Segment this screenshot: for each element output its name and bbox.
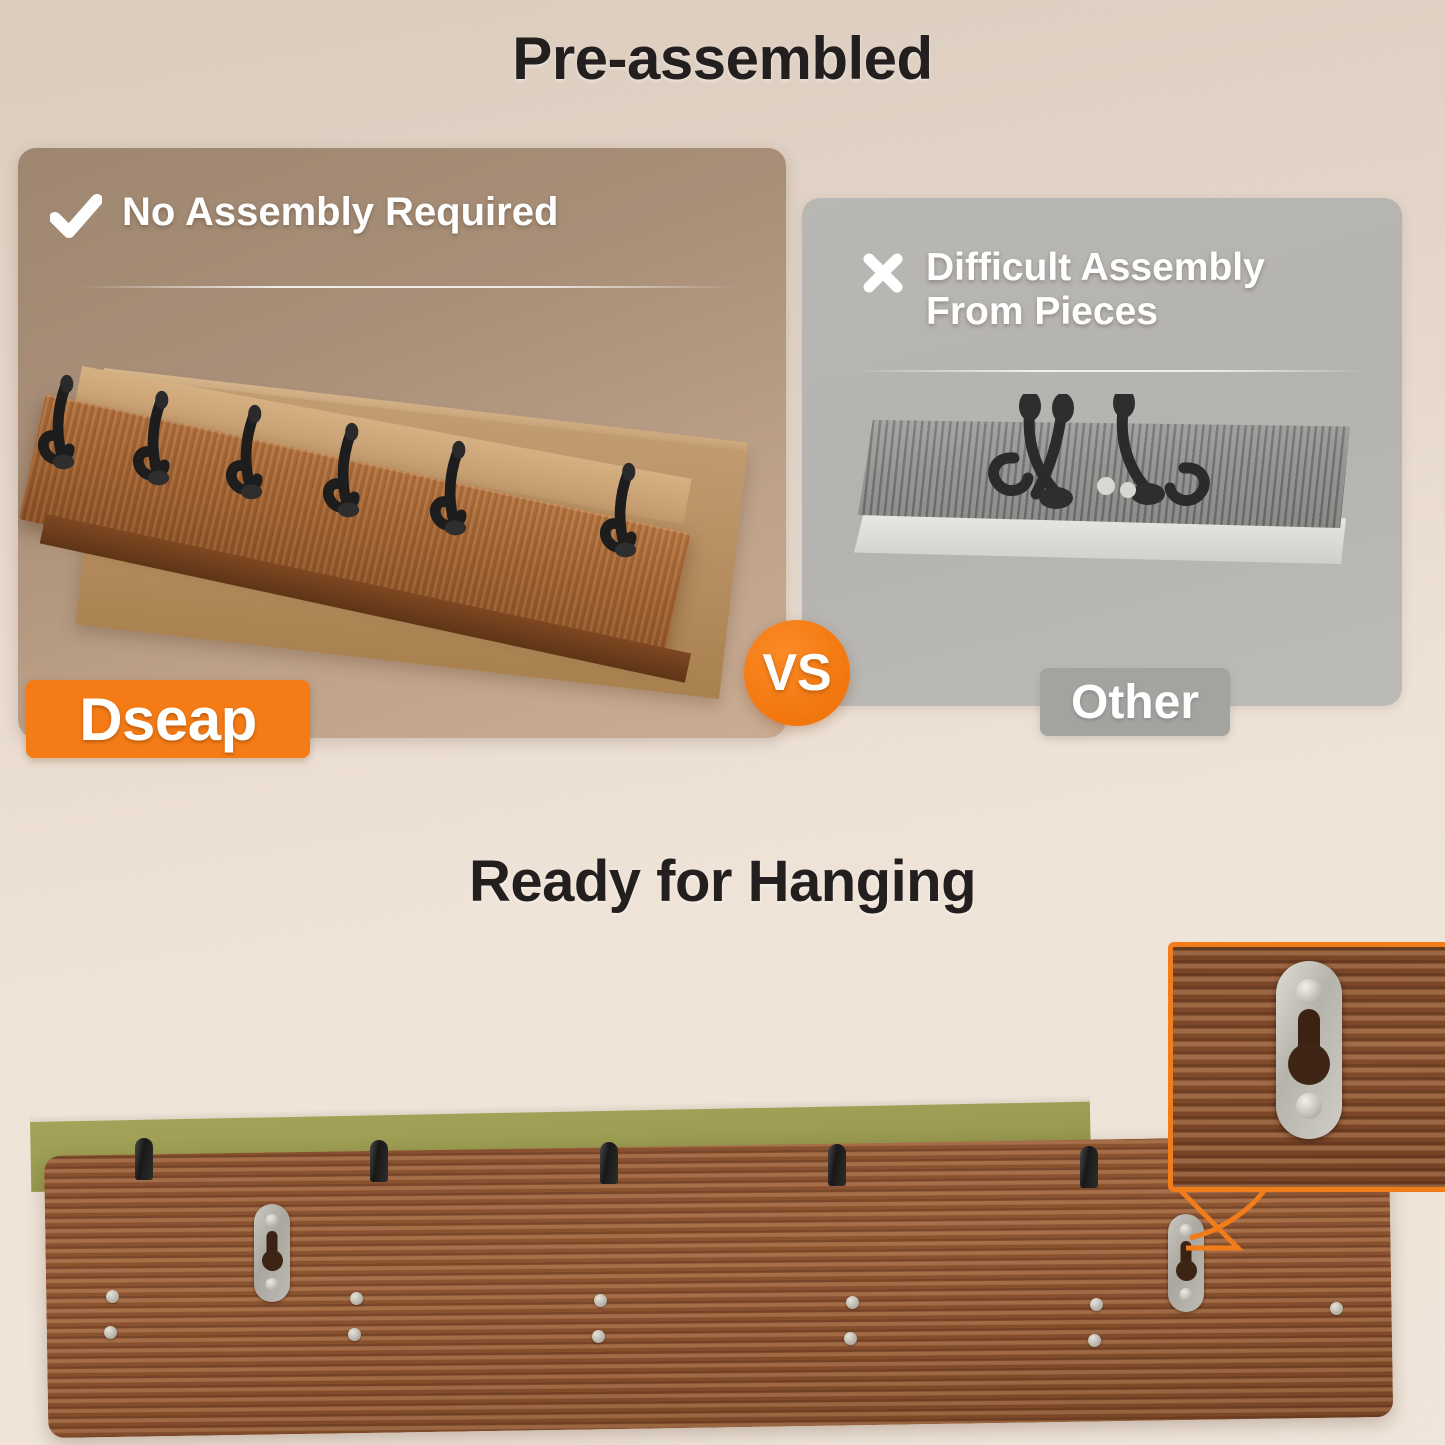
coat-hook-icon [226,398,272,530]
coat-hook-icon [430,434,476,566]
dseap-panel-headline: No Assembly Required [122,190,558,235]
mounting-screw [846,1296,859,1309]
dseap-panel-header: No Assembly Required [50,190,558,245]
other-panel-header: Difficult Assembly From Pieces [860,246,1265,333]
coat-hook-icon [133,384,179,516]
comparison-panel-other: Difficult Assembly From Pieces [802,198,1402,706]
callout-keyhole-plate [1276,961,1342,1139]
disassembled-parts-photo [830,394,1375,619]
callout-plate-screw [1296,979,1322,1005]
keyhole-zoom-callout [1168,942,1445,1192]
mounting-screw [1330,1302,1343,1315]
dseap-panel-divider [78,286,738,288]
brand-badge-other: Other [1040,668,1230,736]
mounting-screw [1088,1334,1101,1347]
keyhole-hanger-plate [1168,1214,1204,1312]
coat-hook-icon [600,456,646,588]
other-panel-headline: Difficult Assembly From Pieces [926,246,1265,333]
mounting-screw [592,1330,605,1343]
versus-badge: VS [744,620,850,726]
other-headline-line1: Difficult Assembly [926,246,1265,289]
coat-hook-icon [38,368,84,500]
cross-icon [860,250,906,301]
plate-screw [266,1214,279,1227]
mounting-screw [104,1326,117,1339]
comparison-panel-dseap: No Assembly Required [18,148,786,738]
keyhole-slot [267,1231,278,1259]
hook-tip [828,1144,846,1186]
mounting-screw [348,1328,361,1341]
page-title: Pre-assembled [0,24,1445,93]
callout-keyhole-slot [1298,1009,1320,1059]
mounting-screw [1090,1298,1103,1311]
check-icon [50,194,102,245]
plate-screw [1180,1224,1193,1237]
section-title-ready-for-hanging: Ready for Hanging [0,848,1445,915]
hook-tip [600,1142,618,1184]
mounting-screw [844,1332,857,1345]
other-headline-line2: From Pieces [926,290,1158,333]
hook-tip [1080,1146,1098,1188]
hook-tip [135,1138,153,1180]
mounting-screw [594,1294,607,1307]
hook-tip [370,1140,388,1182]
plate-screw [266,1278,279,1291]
brand-badge-dseap: Dseap [26,680,310,758]
other-panel-divider [850,370,1370,372]
loose-hooks-pile-icon [978,394,1238,544]
keyhole-slot [1181,1241,1192,1269]
plate-screw [1180,1288,1193,1301]
mounting-screw [350,1292,363,1305]
keyhole-hanger-plate [254,1204,290,1302]
coat-hook-icon [323,416,369,548]
mounting-screw [106,1290,119,1303]
callout-plate-screw [1296,1093,1322,1119]
